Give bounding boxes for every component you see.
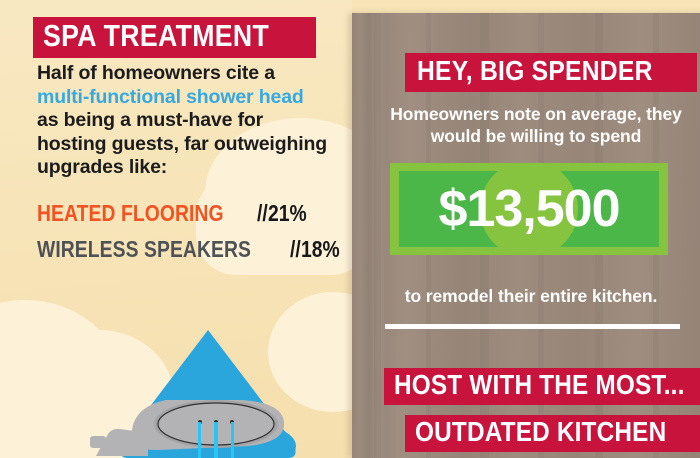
water-stream-icon — [198, 422, 201, 458]
big-spender-intro-text: Homeowners note on average, they would b… — [386, 103, 686, 147]
spa-treatment-body-text: Half of homeowners cite a multi-function… — [37, 62, 327, 180]
money-amount-inner: $13,500 — [399, 171, 659, 247]
shower-head-illustration — [88, 330, 328, 458]
big-spender-outro-text: to remodel their entire kitchen. — [376, 285, 686, 307]
host-with-the-most-text: HOST WITH THE MOST... — [394, 370, 685, 400]
stat-label-wireless-speakers: WIRELESS SPEAKERS — [37, 236, 251, 263]
shower-head-svg — [88, 330, 328, 458]
host-with-the-most-banner: HOST WITH THE MOST... — [384, 368, 700, 405]
outdated-kitchen-text: OUTDATED KITCHEN — [415, 417, 666, 447]
spa-body-part1: Half of homeowners cite a — [37, 62, 275, 84]
money-amount-box: $13,500 — [390, 163, 668, 255]
water-stream-icon — [214, 422, 218, 458]
stat-value-heated-flooring: 21% — [268, 200, 307, 227]
big-spender-heading-text: HEY, BIG SPENDER — [417, 56, 653, 86]
water-stream-icon — [231, 422, 234, 458]
right-panel-big-spender: HEY, BIG SPENDER Homeowners note on aver… — [352, 13, 700, 458]
stat-separator-wireless-speakers: // — [290, 236, 301, 263]
stat-label-heated-flooring: HEATED FLOORING — [37, 200, 224, 227]
section-divider — [385, 324, 680, 329]
big-spender-heading-banner: HEY, BIG SPENDER — [405, 53, 697, 92]
money-amount-value: $13,500 — [439, 182, 620, 236]
infographic-canvas: SPA TREATMENT Half of homeowners cite a … — [0, 0, 700, 458]
outdated-kitchen-banner: OUTDATED KITCHEN — [405, 415, 700, 452]
spa-treatment-heading-banner: SPA TREATMENT — [33, 17, 316, 58]
spa-treatment-heading-text: SPA TREATMENT — [43, 20, 269, 52]
stat-row-wireless-speakers: WIRELESS SPEAKERS//18% — [37, 236, 347, 263]
left-panel-spa-treatment: SPA TREATMENT Half of homeowners cite a … — [0, 0, 352, 458]
stat-separator-heated-flooring: // — [257, 200, 268, 227]
stat-row-heated-flooring: HEATED FLOORING//21% — [37, 200, 314, 227]
shower-arm-cap-icon — [90, 436, 106, 448]
stat-value-wireless-speakers: 18% — [301, 236, 340, 263]
spa-body-part2: as being a must-have for hosting guests,… — [37, 109, 327, 178]
spa-body-highlight: multi-functional shower head — [37, 86, 304, 108]
